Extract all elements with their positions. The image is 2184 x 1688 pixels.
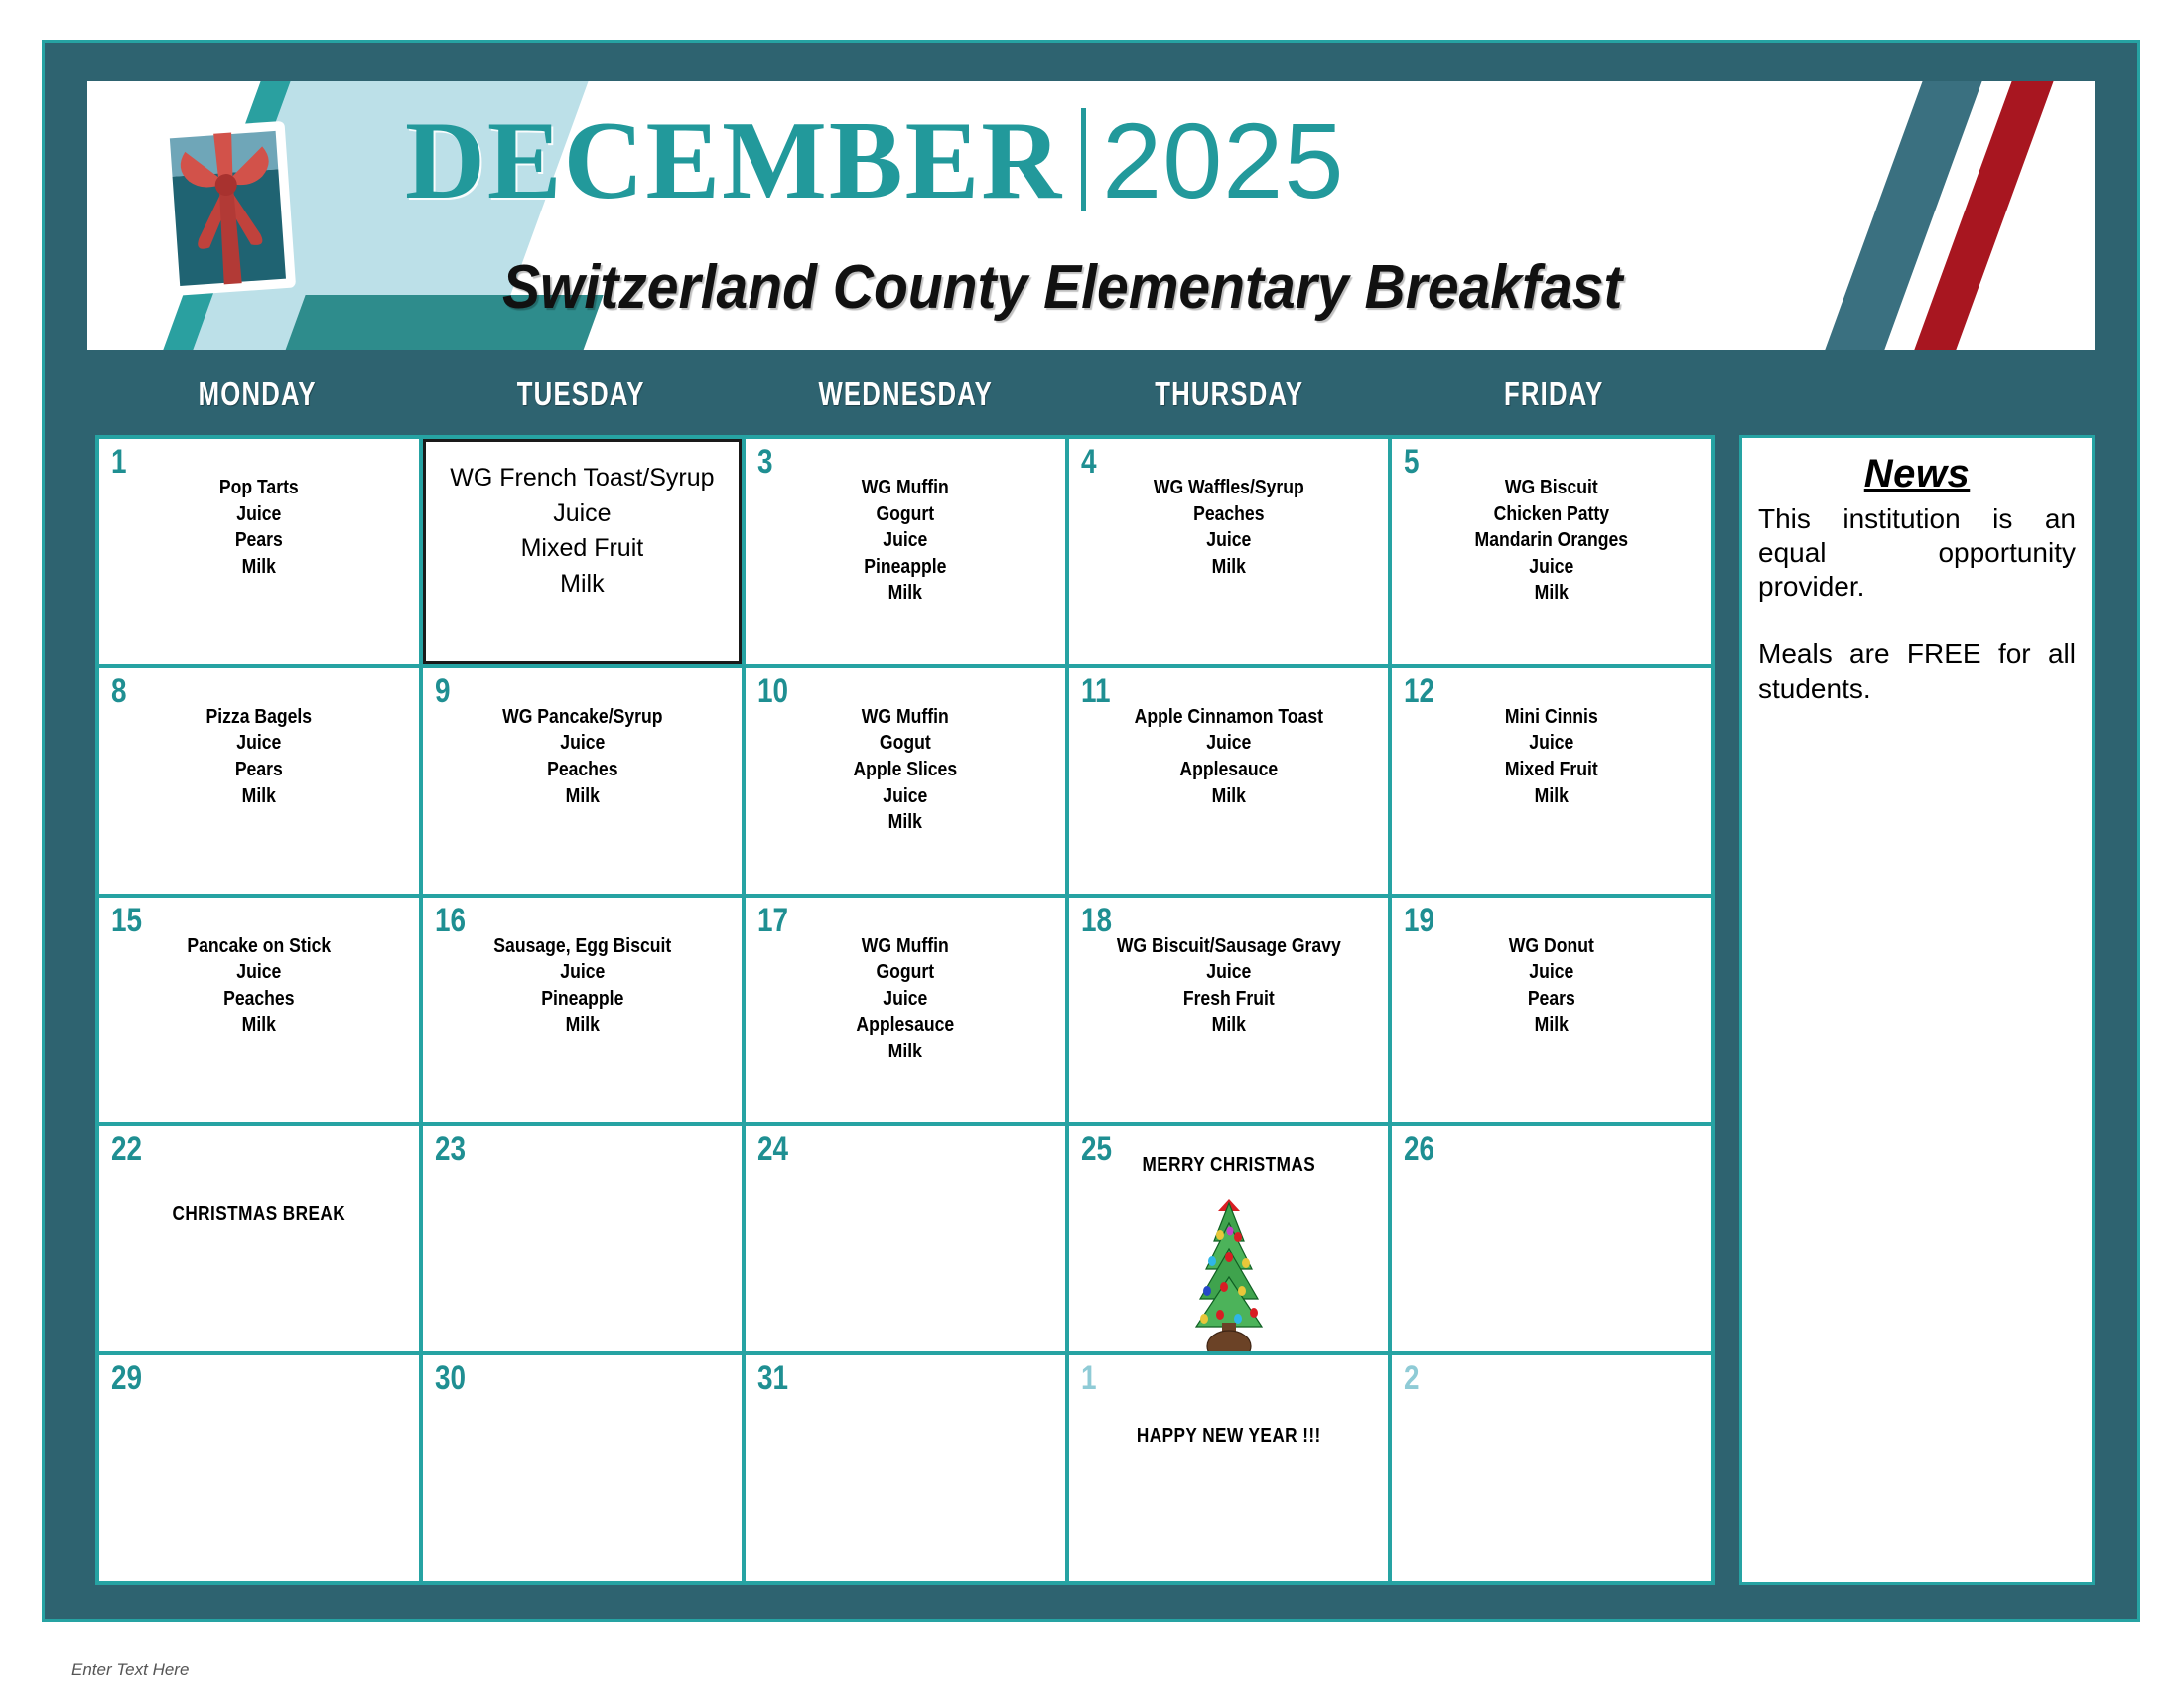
menu-item: Juice [124,959,394,986]
day-number: 1 [1081,1359,1097,1398]
day-cell[interactable]: 16Sausage, Egg BiscuitJuicePineappleMilk [423,898,743,1123]
calendar-grid: 1Pop TartsJuicePearsMilkWG French Toast/… [95,435,1715,1585]
menu-items: Pizza BagelsJuicePearsMilk [118,704,399,809]
menu-item: Juice [770,986,1040,1013]
menu-items: WG BiscuitChicken PattyMandarin OrangesJ… [1412,475,1693,607]
weekday-header-wednesday: WEDNESDAY [779,375,1032,429]
menu-item: Peaches [1093,501,1363,528]
menu-items: Pop TartsJuicePearsMilk [118,475,399,580]
menu-item: Gogut [770,730,1040,757]
menu-items: WG MuffinGogurtJuiceApplesauceMilk [764,933,1045,1065]
menu-items: WG MuffinGogutApple SlicesJuiceMilk [764,704,1045,836]
menu-item: Pizza Bagels [124,704,394,731]
news-paragraph: This institution is an equal opportunity… [1758,502,2076,604]
menu-item: Juice [1417,959,1687,986]
day-cell[interactable]: 31 [746,1355,1065,1581]
menu-item: Mini Cinnis [1417,704,1687,731]
day-note: CHRISTMAS BREAK [122,1203,397,1226]
menu-items: WG MuffinGogurtJuicePineappleMilk [764,475,1045,607]
menu-item: Juice [447,730,717,757]
menu-items: Sausage, Egg BiscuitJuicePineappleMilk [442,933,723,1039]
menu-item: Juice [124,501,394,528]
day-cell[interactable]: 1Pop TartsJuicePearsMilk [99,439,419,664]
footer-placeholder-text[interactable]: Enter Text Here [71,1660,189,1680]
weekday-header-monday: MONDAY [131,375,384,429]
christmas-tree-icon [1174,1196,1284,1351]
menu-item: Mandarin Oranges [1417,527,1687,554]
menu-item: Milk [1417,1012,1687,1039]
news-panel: News This institution is an equal opport… [1739,435,2095,1585]
menu-item: Peaches [447,757,717,783]
weekday-header-row: MONDAYTUESDAYWEDNESDAYTHURSDAYFRIDAY [95,375,1715,429]
menu-item: Pop Tarts [124,475,394,501]
day-cell[interactable]: 17WG MuffinGogurtJuiceApplesauceMilk [746,898,1065,1123]
menu-item: Milk [447,783,717,810]
menu-item: Sausage, Egg Biscuit [447,933,717,960]
day-number: 26 [1404,1130,1434,1169]
menu-item: Juice [770,783,1040,810]
menu-item: Milk [770,809,1040,836]
menu-item: Milk [447,1012,717,1039]
weekday-header-friday: FRIDAY [1428,375,1681,429]
menu-item: Milk [1417,783,1687,810]
menu-item: Juice [1093,730,1363,757]
weekday-header-tuesday: TUESDAY [455,375,708,429]
day-cell[interactable]: 26 [1392,1126,1711,1351]
menu-item: Gogurt [770,501,1040,528]
news-title: News [1758,452,2076,496]
gift-box-icon [159,109,296,296]
day-cell[interactable]: 29 [99,1355,419,1581]
menu-item: Juice [124,730,394,757]
menu-items: Pancake on StickJuicePeachesMilk [118,933,399,1039]
day-cell[interactable]: 9WG Pancake/SyrupJuicePeachesMilk [423,668,743,894]
day-cell[interactable]: 10WG MuffinGogutApple SlicesJuiceMilk [746,668,1065,894]
menu-items: WG DonutJuicePearsMilk [1412,933,1693,1039]
day-cell[interactable]: 3WG MuffinGogurtJuicePineappleMilk [746,439,1065,664]
menu-item: WG Muffin [770,475,1040,501]
menu-item: Pears [124,757,394,783]
day-cell[interactable]: 18WG Biscuit/Sausage GravyJuiceFresh Fru… [1069,898,1389,1123]
day-note: MERRY CHRISTMAS [1091,1154,1366,1177]
menu-item: Juice [1417,554,1687,581]
menu-item: Pineapple [447,986,717,1013]
menu-item: Fresh Fruit [1093,986,1363,1013]
menu-items: Apple Cinnamon ToastJuiceApplesauceMilk [1088,704,1369,809]
menu-item: Milk [770,1039,1040,1065]
day-cell[interactable]: 15Pancake on StickJuicePeachesMilk [99,898,419,1123]
menu-item: WG Muffin [770,704,1040,731]
menu-item: Juice [429,496,737,532]
day-cell[interactable]: 22CHRISTMAS BREAK [99,1126,419,1351]
menu-item: Applesauce [1093,757,1363,783]
day-note: HAPPY NEW YEAR !!! [1091,1425,1366,1448]
menu-items: WG French Toast/SyrupJuiceMixed FruitMil… [423,461,743,602]
menu-item: Milk [429,567,737,603]
day-cell[interactable]: 11Apple Cinnamon ToastJuiceApplesauceMil… [1069,668,1389,894]
menu-item: Mixed Fruit [429,531,737,567]
menu-item: Juice [770,527,1040,554]
day-cell[interactable]: 8Pizza BagelsJuicePearsMilk [99,668,419,894]
menu-item: Pears [124,527,394,554]
day-cell[interactable]: 2 [1392,1355,1711,1581]
menu-item: Apple Cinnamon Toast [1093,704,1363,731]
menu-item: Milk [124,554,394,581]
menu-item: WG French Toast/Syrup [429,461,737,496]
year-label: 2025 [1102,100,1344,220]
menu-items: WG Biscuit/Sausage GravyJuiceFresh Fruit… [1088,933,1369,1039]
menu-item: Peaches [124,986,394,1013]
menu-item: Pancake on Stick [124,933,394,960]
menu-item: WG Biscuit/Sausage Gravy [1093,933,1363,960]
day-cell[interactable]: 25MERRY CHRISTMAS [1069,1126,1389,1351]
day-cell[interactable]: 19WG DonutJuicePearsMilk [1392,898,1711,1123]
day-number: 24 [757,1130,788,1169]
menu-item: Juice [447,959,717,986]
page-subtitle: Switzerland County Elementary Breakfast [502,252,1622,323]
day-cell[interactable]: 12Mini CinnisJuiceMixed FruitMilk [1392,668,1711,894]
header-banner: DECEMBER2025 Switzerland County Elementa… [87,81,2095,350]
menu-item: WG Donut [1417,933,1687,960]
day-cell[interactable]: 4WG Waffles/SyrupPeachesJuiceMilk [1069,439,1389,664]
day-cell[interactable]: 5WG BiscuitChicken PattyMandarin Oranges… [1392,439,1711,664]
weekday-header-thursday: THURSDAY [1103,375,1356,429]
news-paragraph: Meals are FREE for all students. [1758,637,2076,705]
day-cell[interactable]: 1HAPPY NEW YEAR !!! [1069,1355,1389,1581]
menu-item: Milk [1093,554,1363,581]
menu-item: Milk [1093,783,1363,810]
page-title: DECEMBER2025 [405,105,1344,216]
day-number: 30 [435,1359,466,1398]
menu-item: Pears [1417,986,1687,1013]
menu-item: Chicken Patty [1417,501,1687,528]
menu-item: Apple Slices [770,757,1040,783]
day-cell[interactable]: 24 [746,1126,1065,1351]
menu-items: Mini CinnisJuiceMixed FruitMilk [1412,704,1693,809]
menu-items: WG Pancake/SyrupJuicePeachesMilk [442,704,723,809]
menu-item: Milk [1417,580,1687,607]
day-number: 31 [757,1359,788,1398]
menu-item: WG Biscuit [1417,475,1687,501]
day-cell[interactable]: 23 [423,1126,743,1351]
menu-item: Pineapple [770,554,1040,581]
day-number: 23 [435,1130,466,1169]
menu-item: Milk [1093,1012,1363,1039]
menu-item: Gogurt [770,959,1040,986]
calendar-page: DECEMBER2025 Switzerland County Elementa… [0,0,2184,1688]
day-number: 2 [1404,1359,1420,1398]
menu-item: Applesauce [770,1012,1040,1039]
menu-items: WG Waffles/SyrupPeachesJuiceMilk [1088,475,1369,580]
menu-item: Juice [1093,959,1363,986]
day-cell[interactable]: WG French Toast/SyrupJuiceMixed FruitMil… [423,439,743,664]
day-number: 22 [111,1130,142,1169]
month-label: DECEMBER [405,99,1063,222]
menu-item: Juice [1417,730,1687,757]
menu-item: Juice [1093,527,1363,554]
day-number: 29 [111,1359,142,1398]
menu-item: Milk [770,580,1040,607]
day-cell[interactable]: 30 [423,1355,743,1581]
menu-item: Milk [124,1012,394,1039]
menu-item: WG Waffles/Syrup [1093,475,1363,501]
menu-item: Mixed Fruit [1417,757,1687,783]
title-divider [1081,108,1086,211]
menu-item: Milk [124,783,394,810]
menu-item: WG Muffin [770,933,1040,960]
menu-item: WG Pancake/Syrup [447,704,717,731]
